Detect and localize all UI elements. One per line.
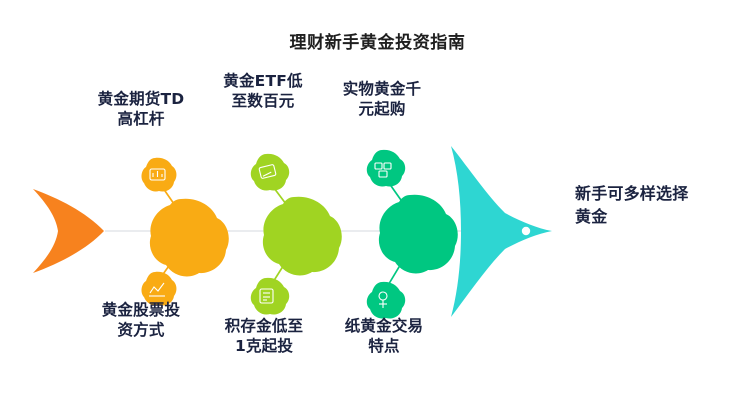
branch-3-top-badge[interactable] — [367, 150, 405, 187]
branch-1-bottom-label: 黄金股票投 资方式 — [76, 300, 206, 341]
branch-1-top-badge[interactable] — [142, 158, 177, 192]
branch-2-bottom-badge[interactable] — [251, 278, 289, 315]
node-gold-etf[interactable] — [263, 197, 342, 276]
fish-eye — [522, 227, 530, 235]
node-physical-gold[interactable] — [379, 195, 458, 274]
branch-2-top-label: 黄金ETF低 至数百元 — [205, 71, 321, 112]
branch-3-bottom-label: 纸黄金交易 特点 — [322, 316, 446, 357]
infographic-canvas: 理财新手黄金投资指南 — [0, 0, 755, 401]
fish-head — [451, 146, 552, 317]
branch-3-top-label: 实物黄金千 元起购 — [322, 79, 442, 120]
branch-1-top-label: 黄金期货TD 高杠杆 — [76, 89, 206, 130]
branch-3-bottom-badge[interactable] — [367, 282, 405, 319]
node-gold-futures[interactable] — [150, 199, 229, 277]
fish-tail-fin — [33, 189, 104, 273]
result-label: 新手可多样选择 黄金 — [575, 183, 751, 228]
branch-2-bottom-label: 积存金低至 1克起投 — [201, 316, 327, 357]
